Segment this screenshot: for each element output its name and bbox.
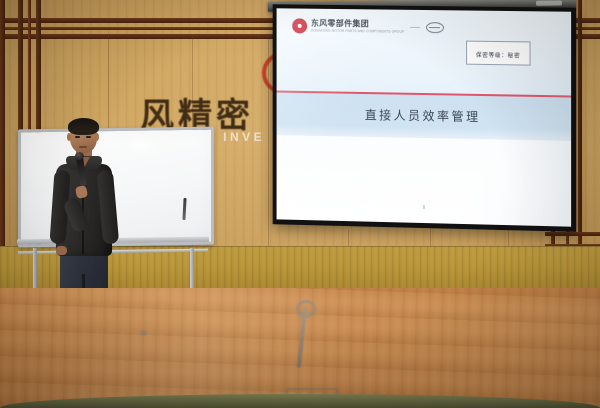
- wall-trim-vertical-edge: [0, 0, 5, 248]
- photo-scene: 风精密 NGFENG INVE 东风零部件集团 DONGFENG MOTOR P…: [0, 0, 600, 408]
- logo-separator: [410, 27, 420, 28]
- wall-trim-horizontal-right: [545, 232, 600, 236]
- wall-panel-seam-5: [430, 228, 431, 248]
- presenter-eye-left: [75, 136, 80, 138]
- slide-logo-words: 东风零部件集团 DONGFENG MOTOR PARTS AND COMPONE…: [311, 20, 404, 34]
- roller-knob: [536, 1, 562, 6]
- presenter-hand-left: [56, 246, 67, 255]
- slide-bottom-speck: [423, 205, 425, 209]
- presenter-brow: [74, 132, 93, 134]
- slide-lower-area: [277, 135, 572, 227]
- presenter-eye-right: [86, 136, 91, 138]
- presenter-ear-left: [67, 133, 71, 141]
- presenter-mouth: [79, 146, 87, 148]
- projection-screen-surface: 东风零部件集团 DONGFENG MOTOR PARTS AND COMPONE…: [277, 8, 572, 226]
- oval-logo-mark-icon: [426, 22, 444, 33]
- floor-screw: [140, 330, 147, 336]
- slide-logo-chinese: 东风零部件集团: [311, 20, 404, 29]
- slide-confidential-box: 保密等级：秘密: [466, 41, 531, 66]
- slide-logo-english: DONGFENG MOTOR PARTS AND COMPONENTS GROU…: [311, 29, 404, 33]
- wall-panel-seam-6: [508, 228, 509, 248]
- slide-title-text: 直接人员效率管理: [365, 108, 481, 124]
- dongfeng-emblem-icon: [292, 18, 307, 33]
- slide-confidential-text: 保密等级：秘密: [476, 53, 520, 60]
- whiteboard-glare: [131, 142, 153, 150]
- slide-company-logo: 东风零部件集团 DONGFENG MOTOR PARTS AND COMPONE…: [292, 18, 444, 35]
- stage-parquet-floor: [0, 288, 600, 408]
- projection-screen: 东风零部件集团 DONGFENG MOTOR PARTS AND COMPONE…: [273, 4, 577, 232]
- presenter-ear-right: [95, 133, 99, 141]
